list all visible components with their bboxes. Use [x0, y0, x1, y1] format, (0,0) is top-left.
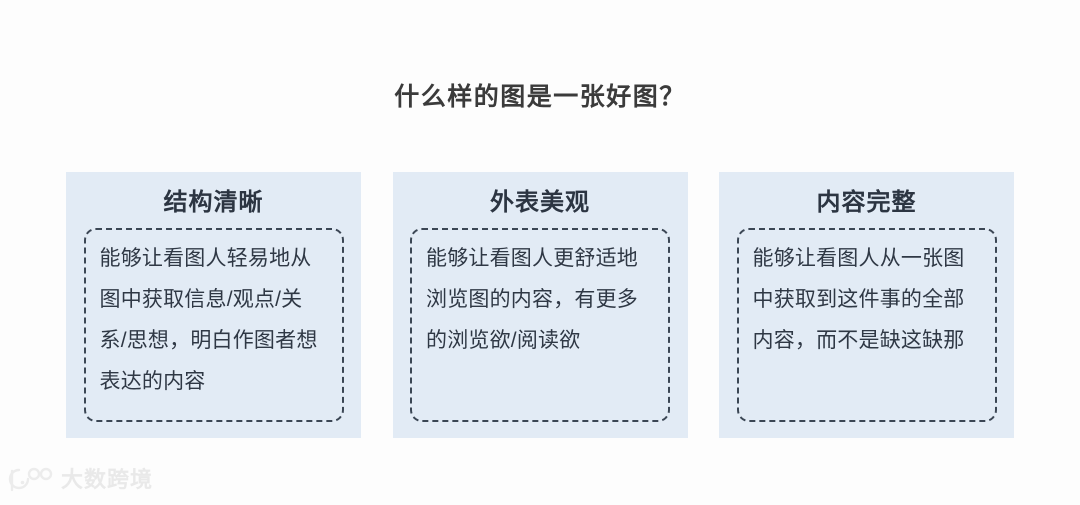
watermark: 大数跨境 [8, 463, 153, 497]
card-body-text: 能够让看图人更舒适地浏览图的内容，有更多的浏览欲/阅读欲 [426, 238, 656, 361]
page-title: 什么样的图是一张好图？ [0, 80, 1080, 114]
dashu-kuajing-logo-icon [8, 466, 54, 494]
slide-canvas: 什么样的图是一张好图？ 结构清晰 能够让看图人轻易地从图中获取信息/观点/关系/… [0, 0, 1080, 505]
card-body-text: 能够让看图人轻易地从图中获取信息/观点/关系/思想，明白作图者想表达的内容 [100, 238, 330, 402]
card-heading: 内容完整 [817, 186, 917, 220]
card-appearance-beautiful: 外表美观 能够让看图人更舒适地浏览图的内容，有更多的浏览欲/阅读欲 [393, 172, 688, 438]
card-structure-clear: 结构清晰 能够让看图人轻易地从图中获取信息/观点/关系/思想，明白作图者想表达的… [66, 172, 361, 438]
card-dashed-box: 能够让看图人从一张图中获取到这件事的全部内容，而不是缺这缺那 [737, 228, 997, 422]
card-heading: 结构清晰 [164, 186, 264, 220]
card-dashed-box: 能够让看图人轻易地从图中获取信息/观点/关系/思想，明白作图者想表达的内容 [84, 228, 344, 422]
card-body-text: 能够让看图人从一张图中获取到这件事的全部内容，而不是缺这缺那 [753, 238, 983, 361]
card-heading: 外表美观 [490, 186, 590, 220]
card-dashed-box: 能够让看图人更舒适地浏览图的内容，有更多的浏览欲/阅读欲 [410, 228, 670, 422]
card-content-complete: 内容完整 能够让看图人从一张图中获取到这件事的全部内容，而不是缺这缺那 [719, 172, 1014, 438]
watermark-text: 大数跨境 [61, 466, 153, 494]
cards-row: 结构清晰 能够让看图人轻易地从图中获取信息/观点/关系/思想，明白作图者想表达的… [66, 172, 1014, 438]
